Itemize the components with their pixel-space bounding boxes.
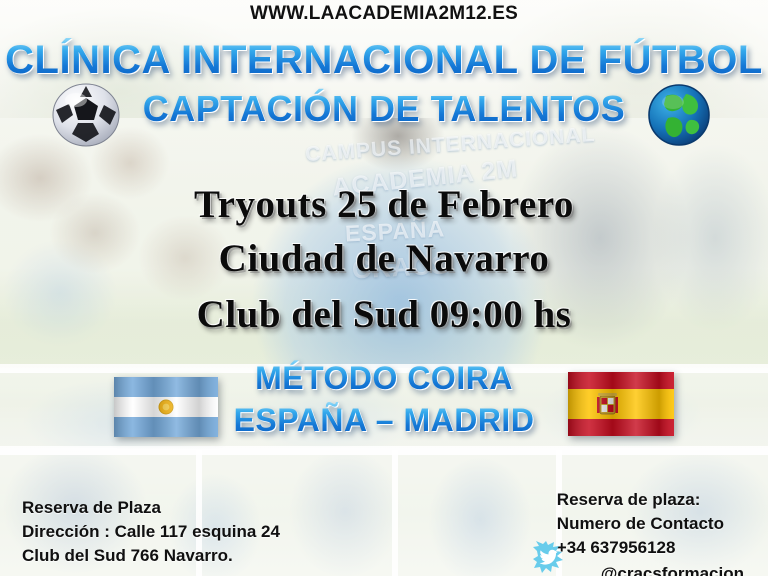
event-city-line: Ciudad de Navarro [0, 236, 768, 281]
venue-address-line: Club del Sud 766 Navarro. [22, 544, 280, 568]
website-url: WWW.LAACADEMIA2M12.ES [0, 3, 768, 25]
reserva-plaza-label: Reserva de Plaza [22, 496, 280, 520]
twitter-handle[interactable]: @cracsformacion [601, 562, 744, 576]
poster-root: CAMPUS INTERNACIONAL ACADEMIA 2M ESPAÑA … [0, 0, 768, 576]
phone-number[interactable]: +34 637956128 [557, 536, 744, 560]
address-line: Dirección : Calle 117 esquina 24 [22, 520, 280, 544]
poster-content: WWW.LAACADEMIA2M12.ES CLÍNICA INTERNACIO… [0, 0, 768, 576]
contact-right-block: Reserva de plaza: Numero de Contacto +34… [557, 488, 744, 576]
globe-icon [646, 82, 712, 148]
soccer-ball-icon [50, 82, 122, 148]
reserva-plaza-label-right: Reserva de plaza: [557, 488, 744, 512]
event-date-line: Tryouts 25 de Febrero [0, 182, 768, 227]
social-handle-row[interactable]: @cracsformacion [557, 562, 744, 576]
page-title: CLÍNICA INTERNACIONAL DE FÚTBOL [0, 38, 768, 83]
argentina-flag [112, 374, 220, 440]
contact-number-label: Numero de Contacto [557, 512, 744, 536]
event-venue-line: Club del Sud 09:00 hs [0, 292, 768, 337]
twitter-bird-icon[interactable] [533, 541, 569, 575]
spain-flag [566, 366, 676, 444]
contact-left-block: Reserva de Plaza Dirección : Calle 117 e… [22, 496, 280, 568]
